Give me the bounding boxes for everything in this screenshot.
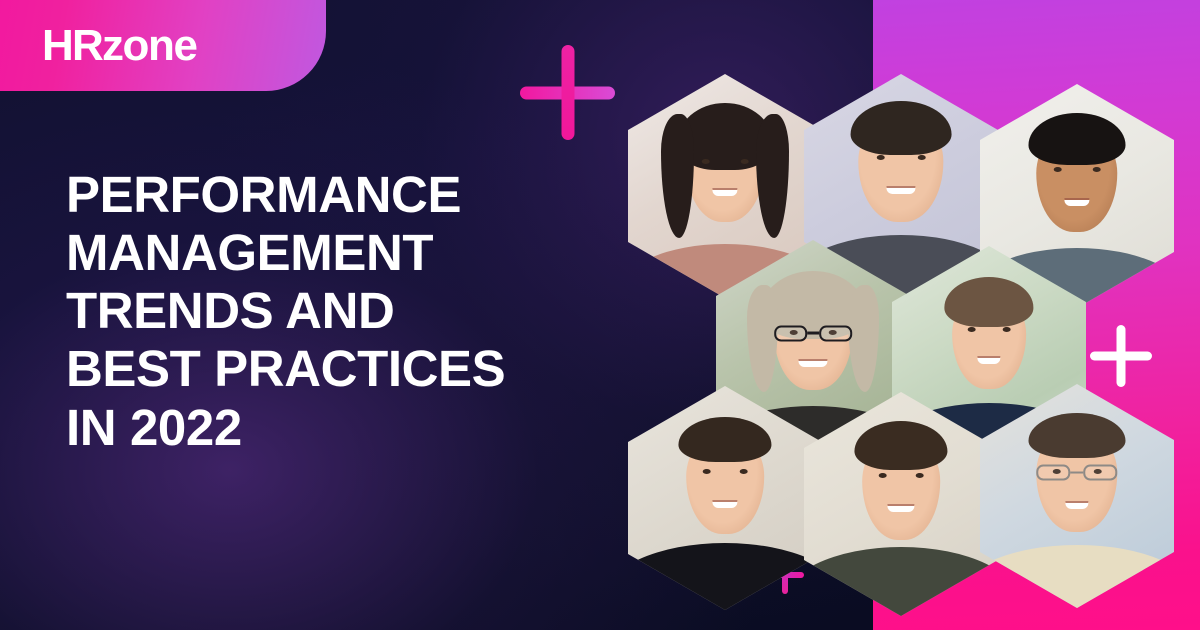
plus-large-icon bbox=[520, 45, 615, 140]
eyes bbox=[879, 473, 924, 478]
hair-right bbox=[848, 285, 879, 393]
glasses-icon bbox=[774, 325, 852, 341]
eyes bbox=[702, 159, 749, 164]
plus-bar-vertical bbox=[561, 45, 574, 140]
eyes bbox=[968, 327, 1011, 332]
glasses-icon bbox=[1036, 465, 1117, 481]
brand-logo-hr: HR bbox=[42, 21, 102, 70]
brand-logo-zone: zone bbox=[102, 21, 197, 70]
hair bbox=[1029, 113, 1126, 165]
hair bbox=[678, 417, 771, 462]
eyes bbox=[703, 469, 748, 474]
mouth bbox=[887, 506, 914, 512]
mouth bbox=[798, 361, 827, 367]
hair bbox=[1029, 413, 1126, 458]
brand-logo-banner[interactable]: HRzone bbox=[0, 0, 326, 91]
mouth bbox=[977, 358, 1000, 364]
mouth bbox=[1065, 503, 1088, 509]
mouth bbox=[886, 188, 915, 194]
page-title: PERFORMANCE MANAGEMENT TRENDS AND BEST P… bbox=[66, 166, 606, 457]
mouth bbox=[1064, 200, 1089, 206]
brand-logo-text: HRzone bbox=[42, 24, 197, 68]
hair bbox=[854, 421, 947, 470]
hair-left bbox=[661, 114, 694, 237]
people-hexagon-grid bbox=[620, 62, 1190, 607]
hair-right bbox=[756, 114, 789, 237]
hair bbox=[944, 277, 1033, 326]
social-card: HRzone PERFORMANCE MANAGEMENT TRENDS AND… bbox=[0, 0, 1200, 630]
mouth bbox=[712, 502, 737, 508]
eyes bbox=[1054, 167, 1101, 172]
mouth bbox=[712, 190, 737, 196]
hair bbox=[851, 101, 952, 155]
eyes bbox=[877, 155, 926, 160]
